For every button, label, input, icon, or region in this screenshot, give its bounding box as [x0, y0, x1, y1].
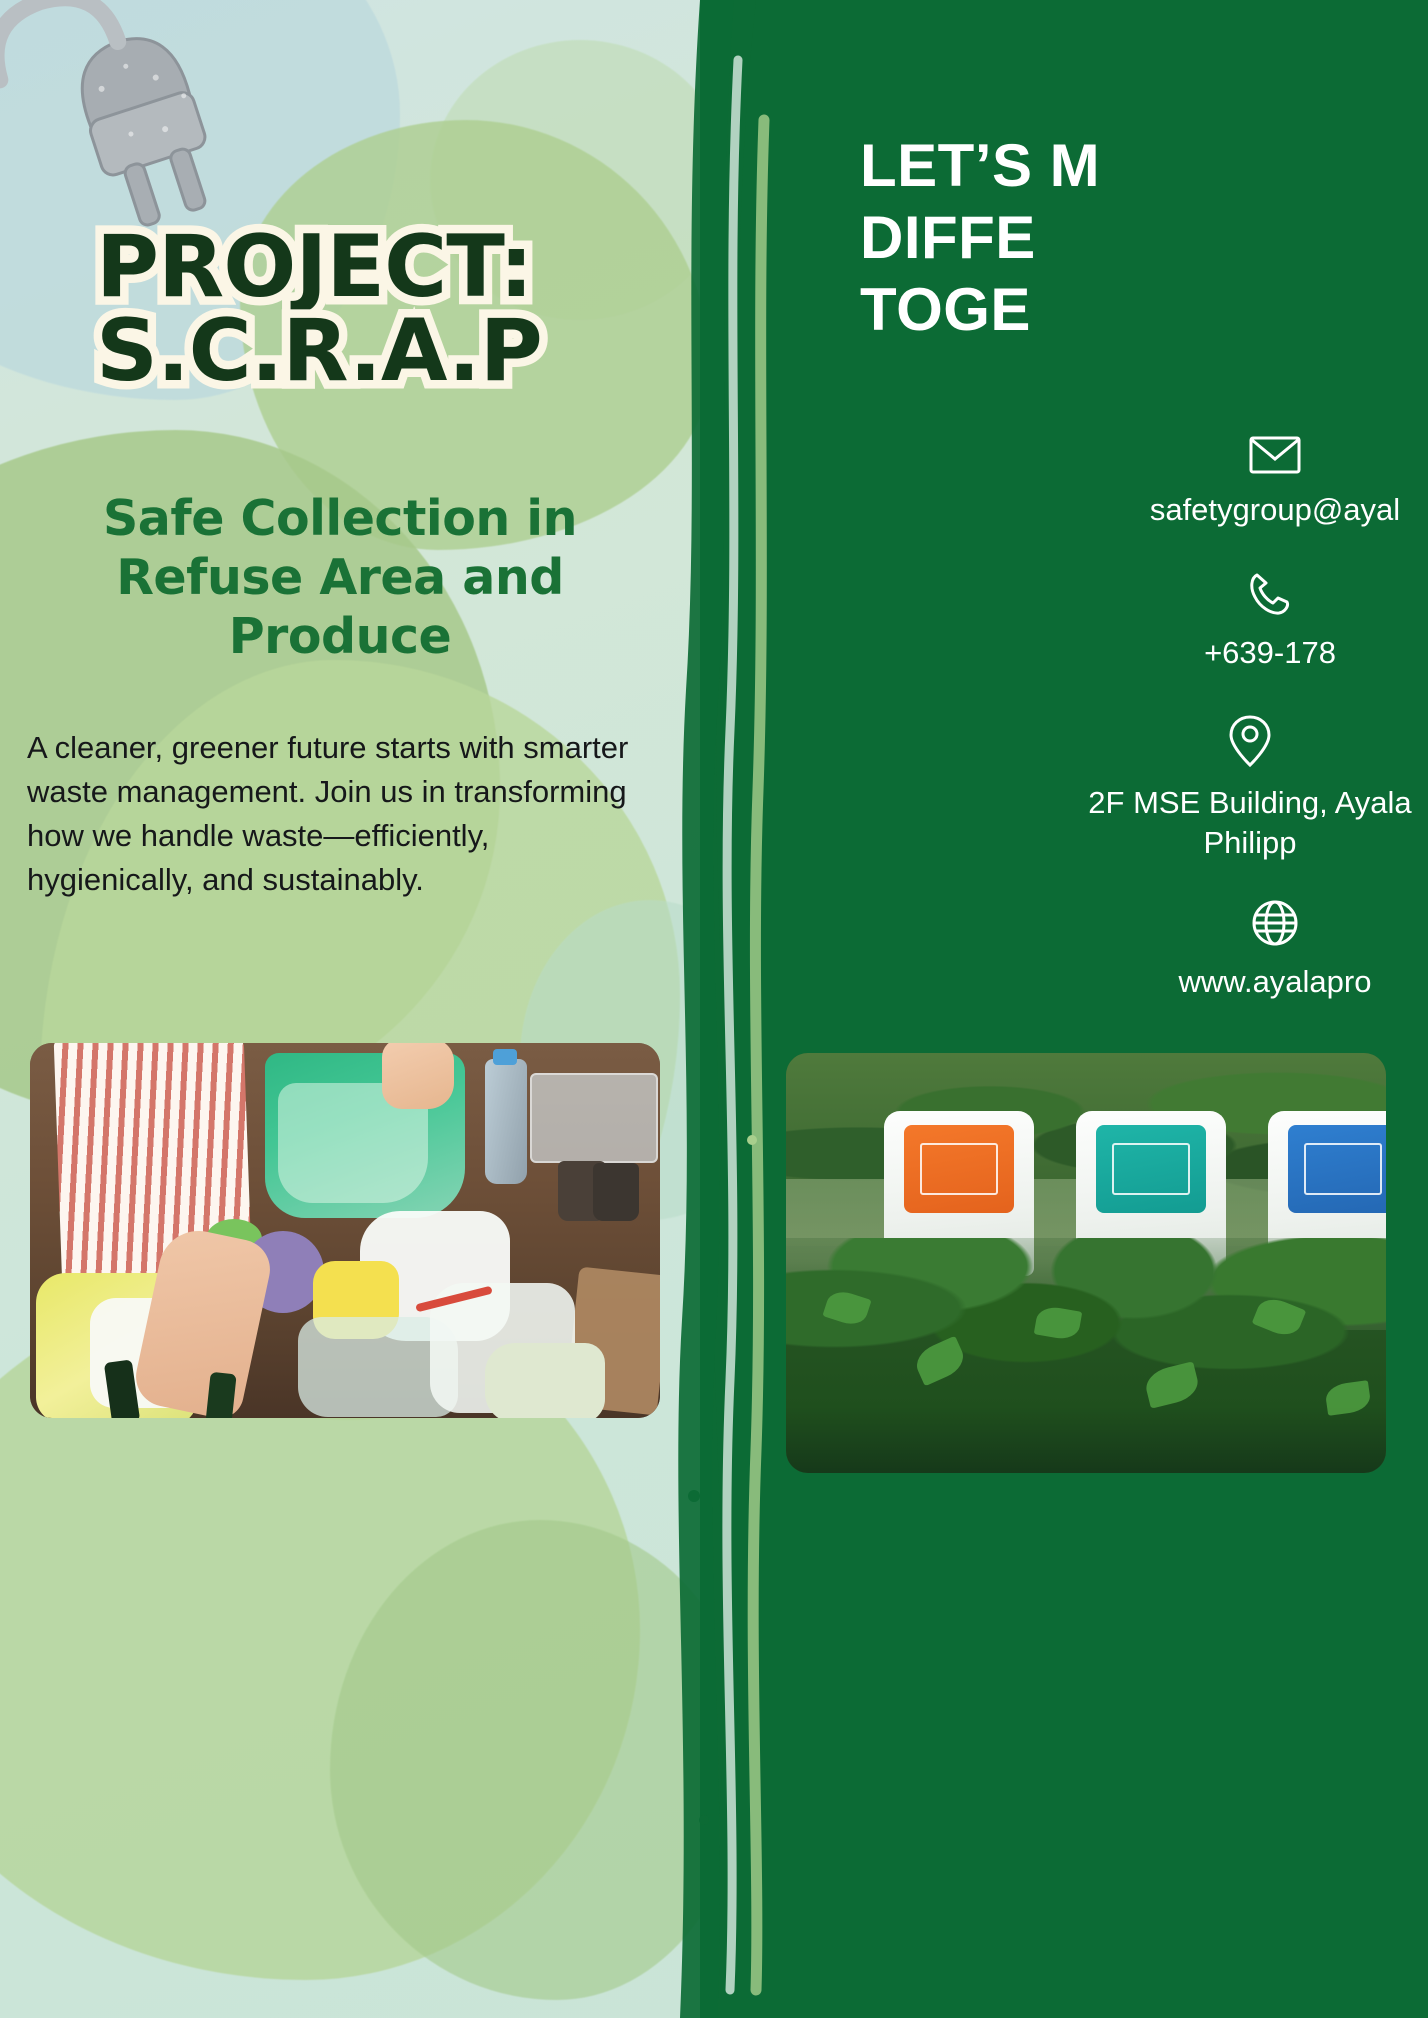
spacer — [760, 536, 1428, 570]
bin-lid-orange — [904, 1125, 1014, 1213]
contact-item-email[interactable]: safetygroup@ayal — [1090, 435, 1428, 530]
brush-stroke-divider — [660, 0, 800, 2018]
photo-object-jar — [593, 1163, 639, 1221]
panel-heading-line-2: DIFFE — [860, 202, 1428, 274]
website-value: www.ayalapro — [1090, 962, 1428, 1002]
contact-item-address[interactable]: 2F MSE Building, Ayala Philipp — [1040, 714, 1428, 864]
bin-symbol-icon — [920, 1143, 998, 1195]
page-title: PROJECT: S.C.R.A.P — [96, 225, 656, 394]
spacer — [760, 869, 1428, 899]
photo-object-tray — [530, 1073, 658, 1163]
waste-sorting-photo — [30, 1043, 660, 1418]
bin-symbol-icon — [1112, 1143, 1190, 1195]
contact-list: safetygroup@ayal +639-178 2F MSE Buildin… — [760, 435, 1428, 1008]
phone-value: +639-178 — [1080, 633, 1428, 673]
bin-lid-blue — [1288, 1125, 1386, 1213]
globe-icon — [1090, 899, 1428, 952]
title-line-1: PROJECT: — [96, 225, 656, 309]
subtitle: Safe Collection in Refuse Area and Produ… — [60, 490, 620, 666]
spacer — [760, 680, 1428, 714]
photo-object-bottle-cap — [493, 1049, 517, 1065]
bin-lid-teal — [1096, 1125, 1206, 1213]
recycling-bins-photo — [786, 1053, 1386, 1473]
location-pin-icon — [1040, 714, 1428, 773]
contact-item-phone[interactable]: +639-178 — [1080, 570, 1428, 673]
poster-canvas: PROJECT: S.C.R.A.P Safe Collection in Re… — [0, 0, 1428, 2018]
address-value: 2F MSE Building, Ayala Philipp — [1040, 783, 1428, 864]
bin-symbol-icon — [1304, 1143, 1382, 1195]
panel-heading-line-1: LET’S M — [860, 130, 1428, 202]
title-line-2: S.C.R.A.P — [96, 309, 656, 393]
photo-object-bottle — [485, 1059, 527, 1184]
email-value: safetygroup@ayal — [1090, 490, 1428, 530]
contact-item-website[interactable]: www.ayalapro — [1090, 899, 1428, 1002]
envelope-icon — [1090, 435, 1428, 480]
photo-object-bottle — [205, 1372, 236, 1418]
panel-heading: LET’S M DIFFE TOGE — [860, 130, 1428, 346]
photo-object-cloth — [485, 1343, 605, 1418]
body-paragraph: A cleaner, greener future starts with sm… — [27, 726, 647, 902]
photo-hedge — [786, 1238, 1386, 1473]
panel-heading-line-3: TOGE — [860, 274, 1428, 346]
photo-person-hand — [382, 1043, 454, 1109]
phone-icon — [1080, 570, 1428, 623]
